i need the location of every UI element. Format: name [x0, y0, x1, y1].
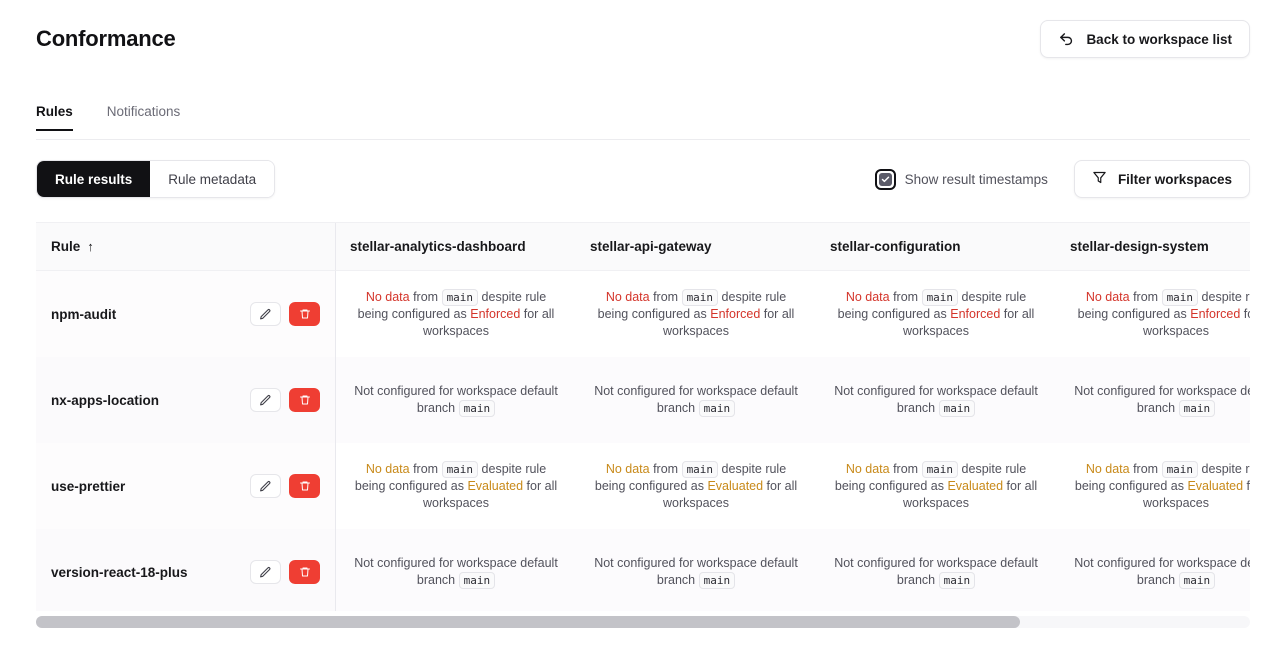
column-header-rule-label: Rule [51, 239, 80, 254]
table-row-rule-cell: npm-audit [36, 271, 336, 357]
pencil-icon [259, 480, 272, 493]
cell-text: Not configured for workspace default bra… [1074, 556, 1250, 587]
undo-arrow-icon [1058, 31, 1075, 48]
table-cell-result: No data from main despite rule being con… [336, 443, 576, 529]
cell-text: Not configured for workspace default bra… [594, 384, 798, 415]
row-actions [250, 388, 320, 412]
primary-tabs: Rules Notifications [36, 104, 1250, 140]
table-row-rule-cell: version-react-18-plus [36, 529, 336, 611]
branch-badge: main [939, 400, 976, 417]
column-header-rule[interactable]: Rule ↑ [36, 223, 336, 271]
delete-rule-button[interactable] [289, 302, 320, 326]
pencil-icon [259, 394, 272, 407]
trash-icon [299, 566, 311, 578]
cell-text: from [890, 290, 922, 304]
tab-rules[interactable]: Rules [36, 104, 87, 130]
row-actions [250, 474, 320, 498]
pencil-icon [259, 566, 272, 579]
table-cell-result: No data from main despite rule being con… [576, 443, 816, 529]
branch-badge: main [682, 461, 719, 478]
timestamps-checkbox[interactable] [875, 169, 896, 190]
table-grid: Rule ↑ stellar-analytics-dashboard stell… [36, 223, 1250, 611]
cell-status-keyword: No data [1086, 290, 1130, 304]
cell-enforcement-level: Enforced [470, 307, 520, 321]
table-row-rule-cell: use-prettier [36, 443, 336, 529]
cell-status-keyword: No data [846, 290, 890, 304]
cell-status-keyword: No data [606, 462, 650, 476]
column-header-workspace[interactable]: stellar-analytics-dashboard [336, 223, 576, 271]
branch-badge: main [939, 572, 976, 589]
cell-text: Not configured for workspace default bra… [354, 384, 558, 415]
cell-status-keyword: No data [846, 462, 890, 476]
sort-ascending-icon: ↑ [87, 239, 94, 254]
branch-badge: main [1179, 400, 1216, 417]
cell-text: Not configured for workspace default bra… [834, 384, 1038, 415]
tab-notifications[interactable]: Notifications [107, 104, 195, 130]
cell-enforcement-level: Enforced [710, 307, 760, 321]
view-mode-segmented-control: Rule results Rule metadata [36, 160, 275, 198]
segment-rule-results[interactable]: Rule results [37, 161, 150, 197]
trash-icon [299, 308, 311, 320]
table-cell-result: Not configured for workspace default bra… [1056, 357, 1250, 443]
cell-text: Not configured for workspace default bra… [354, 556, 558, 587]
branch-badge: main [1179, 572, 1216, 589]
table-cell-result: Not configured for workspace default bra… [576, 357, 816, 443]
conformance-page: Conformance Back to workspace list Rules… [0, 0, 1286, 667]
back-button-label: Back to workspace list [1086, 32, 1232, 47]
branch-badge: main [442, 461, 479, 478]
table-cell-result: No data from main despite rule being con… [1056, 271, 1250, 357]
delete-rule-button[interactable] [289, 560, 320, 584]
table-cell-result: Not configured for workspace default bra… [336, 529, 576, 611]
controls-right-group: Show result timestamps Filter workspaces [875, 160, 1250, 198]
table-cell-result: Not configured for workspace default bra… [336, 357, 576, 443]
cell-status-keyword: No data [606, 290, 650, 304]
cell-text: from [410, 462, 442, 476]
table-cell-result: Not configured for workspace default bra… [816, 357, 1056, 443]
table-cell-result: No data from main despite rule being con… [816, 271, 1056, 357]
branch-badge: main [699, 572, 736, 589]
table-cell-result: Not configured for workspace default bra… [816, 529, 1056, 611]
rule-name: npm-audit [51, 307, 116, 322]
table-cell-result: No data from main despite rule being con… [816, 443, 1056, 529]
filter-button-label: Filter workspaces [1118, 172, 1232, 187]
cell-text: Not configured for workspace default bra… [1074, 384, 1250, 415]
cell-enforcement-level: Evaluated [1187, 479, 1243, 493]
delete-rule-button[interactable] [289, 388, 320, 412]
branch-badge: main [922, 289, 959, 306]
timestamps-label: Show result timestamps [905, 172, 1048, 187]
branch-badge: main [459, 572, 496, 589]
page-title: Conformance [36, 26, 176, 52]
cell-text: Not configured for workspace default bra… [834, 556, 1038, 587]
cell-text: from [650, 462, 682, 476]
show-result-timestamps-toggle[interactable]: Show result timestamps [875, 169, 1048, 190]
cell-enforcement-level: Evaluated [947, 479, 1003, 493]
back-to-workspace-list-button[interactable]: Back to workspace list [1040, 20, 1250, 58]
branch-badge: main [922, 461, 959, 478]
table-cell-result: No data from main despite rule being con… [336, 271, 576, 357]
cell-status-keyword: No data [366, 462, 410, 476]
cell-text: Not configured for workspace default bra… [594, 556, 798, 587]
branch-badge: main [1162, 461, 1199, 478]
horizontal-scrollbar-thumb[interactable] [36, 616, 1020, 628]
trash-icon [299, 394, 311, 406]
cell-text: from [1130, 462, 1162, 476]
edit-rule-button[interactable] [250, 388, 281, 412]
edit-rule-button[interactable] [250, 560, 281, 584]
pencil-icon [259, 308, 272, 321]
horizontal-scrollbar[interactable] [36, 616, 1250, 628]
row-actions [250, 560, 320, 584]
rule-name: use-prettier [51, 479, 125, 494]
rule-name: version-react-18-plus [51, 565, 188, 580]
cell-status-keyword: No data [366, 290, 410, 304]
segment-rule-metadata[interactable]: Rule metadata [150, 161, 274, 197]
row-actions [250, 302, 320, 326]
cell-text: from [410, 290, 442, 304]
table-cell-result: No data from main despite rule being con… [1056, 443, 1250, 529]
table-cell-result: Not configured for workspace default bra… [576, 529, 816, 611]
trash-icon [299, 480, 311, 492]
cell-enforcement-level: Enforced [1190, 307, 1240, 321]
column-header-workspace[interactable]: stellar-api-gateway [576, 223, 816, 271]
delete-rule-button[interactable] [289, 474, 320, 498]
funnel-icon [1092, 170, 1107, 188]
table-controls: Rule results Rule metadata Show result t… [36, 160, 1250, 198]
branch-badge: main [459, 400, 496, 417]
cell-text: from [890, 462, 922, 476]
branch-badge: main [442, 289, 479, 306]
branch-badge: main [682, 289, 719, 306]
edit-rule-button[interactable] [250, 474, 281, 498]
edit-rule-button[interactable] [250, 302, 281, 326]
checkbox-fill [879, 173, 892, 186]
column-header-workspace[interactable]: stellar-configuration [816, 223, 1056, 271]
column-header-workspace[interactable]: stellar-design-system [1056, 223, 1250, 271]
branch-badge: main [1162, 289, 1199, 306]
cell-status-keyword: No data [1086, 462, 1130, 476]
rules-results-table: Rule ↑ stellar-analytics-dashboard stell… [36, 222, 1250, 611]
branch-badge: main [699, 400, 736, 417]
filter-workspaces-button[interactable]: Filter workspaces [1074, 160, 1250, 198]
cell-enforcement-level: Evaluated [707, 479, 763, 493]
cell-text: from [1130, 290, 1162, 304]
cell-enforcement-level: Enforced [950, 307, 1000, 321]
table-cell-result: Not configured for workspace default bra… [1056, 529, 1250, 611]
rule-name: nx-apps-location [51, 393, 159, 408]
cell-text: from [650, 290, 682, 304]
cell-enforcement-level: Evaluated [467, 479, 523, 493]
table-cell-result: No data from main despite rule being con… [576, 271, 816, 357]
table-row-rule-cell: nx-apps-location [36, 357, 336, 443]
page-header: Conformance Back to workspace list [0, 0, 1286, 78]
